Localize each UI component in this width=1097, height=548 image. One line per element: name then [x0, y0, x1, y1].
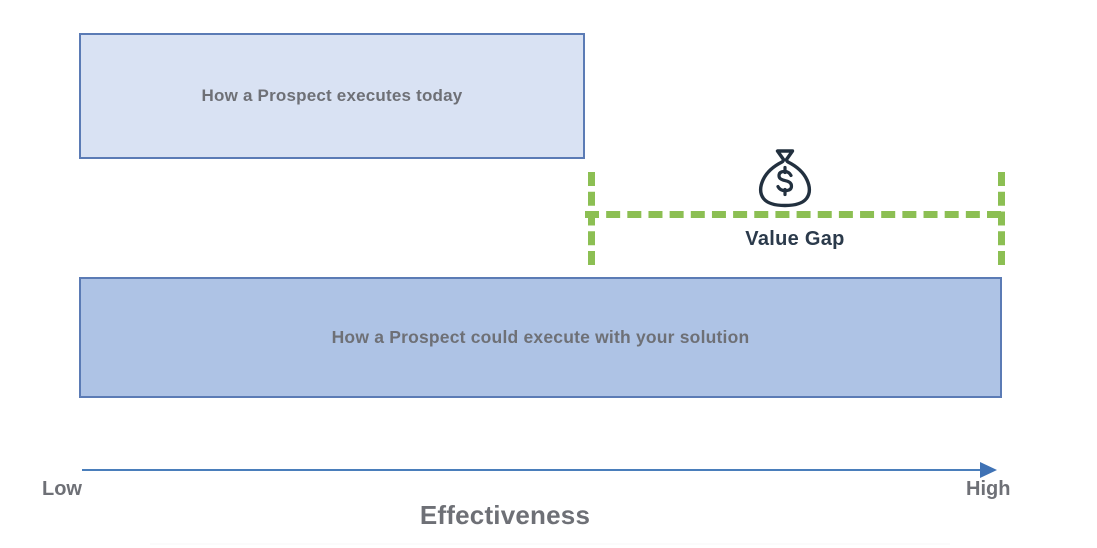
axis-label-low: Low	[42, 478, 82, 501]
bar-future-state-label: How a Prospect could execute with your s…	[332, 327, 750, 348]
value-gap-right-dashed-line	[998, 172, 1005, 265]
bar-current-state-label: How a Prospect executes today	[202, 86, 463, 106]
value-gap-bracket: Value Gap	[575, 160, 1015, 275]
value-gap-horizontal-dashed-line	[585, 211, 1001, 218]
axis-title: Effectiveness	[0, 500, 1010, 531]
effectiveness-axis-line	[82, 469, 987, 471]
value-gap-diagram: How a Prospect executes today How a Pros…	[0, 0, 1097, 548]
bar-current-state: How a Prospect executes today	[79, 33, 585, 159]
bar-future-state: How a Prospect could execute with your s…	[79, 277, 1002, 398]
axis-label-high: High	[966, 478, 1010, 501]
axis-arrowhead-icon	[980, 462, 997, 478]
value-gap-left-dashed-line	[588, 172, 595, 265]
value-gap-label: Value Gap	[575, 228, 1015, 251]
money-bag-icon	[750, 147, 820, 209]
bottom-divider	[150, 543, 950, 545]
